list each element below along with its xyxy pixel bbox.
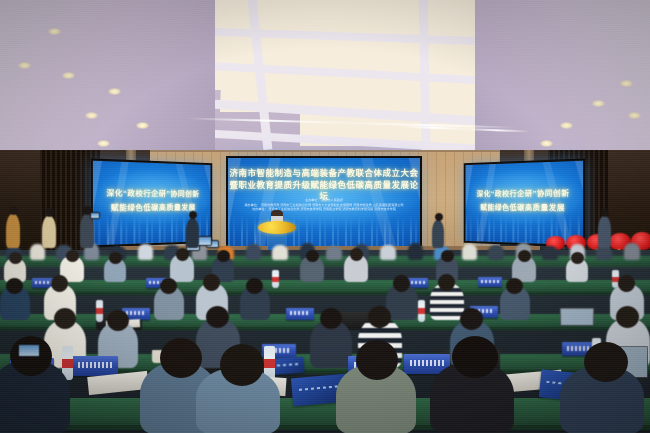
attendee-head (350, 248, 363, 261)
attendee-head (246, 278, 263, 294)
crew-head (45, 208, 54, 217)
ceiling-soffit-right (475, 0, 650, 175)
name-card (478, 277, 502, 287)
attendee (462, 244, 477, 260)
attendee-head (51, 275, 68, 292)
attendee-head (618, 275, 635, 292)
attendee-head (441, 250, 454, 262)
attendee-head (217, 250, 230, 262)
water-bottle (96, 300, 103, 322)
attendee-head (109, 252, 122, 264)
attendee-head (460, 308, 483, 330)
water-bottle (418, 300, 425, 322)
attendee-head (203, 274, 220, 291)
attendee-head (160, 278, 177, 294)
attendee-head (616, 306, 639, 328)
attendee (272, 245, 288, 260)
videographer (80, 214, 94, 248)
attendee-head (9, 252, 22, 264)
downlight (560, 122, 573, 129)
attendee-head (160, 338, 202, 378)
attendee-head (6, 278, 23, 294)
attendee-head (356, 340, 398, 380)
name-card-jiang-qingjun[interactable] (72, 356, 118, 376)
downlight (540, 140, 553, 147)
attendee-head (452, 336, 498, 378)
downlight (136, 122, 149, 129)
camera-phone (18, 344, 40, 357)
downlight (97, 140, 110, 147)
attendee-head (66, 250, 79, 262)
attendee-head (518, 250, 531, 262)
downlight (85, 112, 98, 119)
crew-head (189, 211, 197, 219)
crew-head (601, 209, 609, 217)
attendee-head (571, 252, 584, 264)
downlight (592, 100, 605, 107)
attendee-head (393, 275, 410, 292)
attendee (138, 244, 153, 260)
crew-head (435, 213, 443, 221)
downlight (62, 72, 75, 79)
audience-area (0, 250, 650, 433)
videographer (186, 218, 199, 248)
table-edge (0, 425, 650, 430)
main-screen-frame (226, 156, 422, 252)
crew-member (598, 216, 611, 248)
attendee-head (107, 310, 129, 331)
attendee (624, 243, 640, 260)
attendee (542, 246, 558, 260)
podium-flower-arrangement (258, 221, 296, 234)
attendee-head (320, 308, 342, 329)
attendee (246, 244, 261, 260)
crew-member (432, 220, 444, 248)
downlight (620, 80, 633, 87)
crew-member (6, 214, 20, 248)
attendee-head (368, 306, 391, 328)
water-bottle (272, 270, 279, 288)
ceiling-soffit-left (0, 0, 215, 175)
attendee-head (306, 250, 319, 262)
name-card (286, 308, 314, 320)
ceiling (0, 0, 650, 175)
attendee (326, 246, 342, 260)
table-edge (0, 292, 650, 295)
attendee-head (506, 278, 523, 294)
attendee-head (220, 344, 264, 386)
downlight (628, 112, 641, 119)
crew-head (9, 206, 18, 215)
attendee-head (438, 274, 455, 291)
right-screen-frame (464, 158, 586, 247)
attendee-head (584, 342, 628, 382)
laptop (560, 308, 594, 326)
crew-member (42, 216, 56, 248)
downlight (108, 88, 121, 95)
downlight (48, 28, 61, 35)
attendee-head (54, 308, 76, 329)
attendee (408, 243, 423, 260)
attendee-head (206, 306, 229, 328)
attendee (380, 245, 396, 260)
conference-hall-photo: 深化“政校行企研”协同创新 赋能绿色低碳高质量发展 济南市智能制造与高端装备产教… (0, 0, 650, 433)
downlight (18, 62, 31, 69)
attendee (488, 245, 504, 260)
video-camera (90, 212, 100, 219)
